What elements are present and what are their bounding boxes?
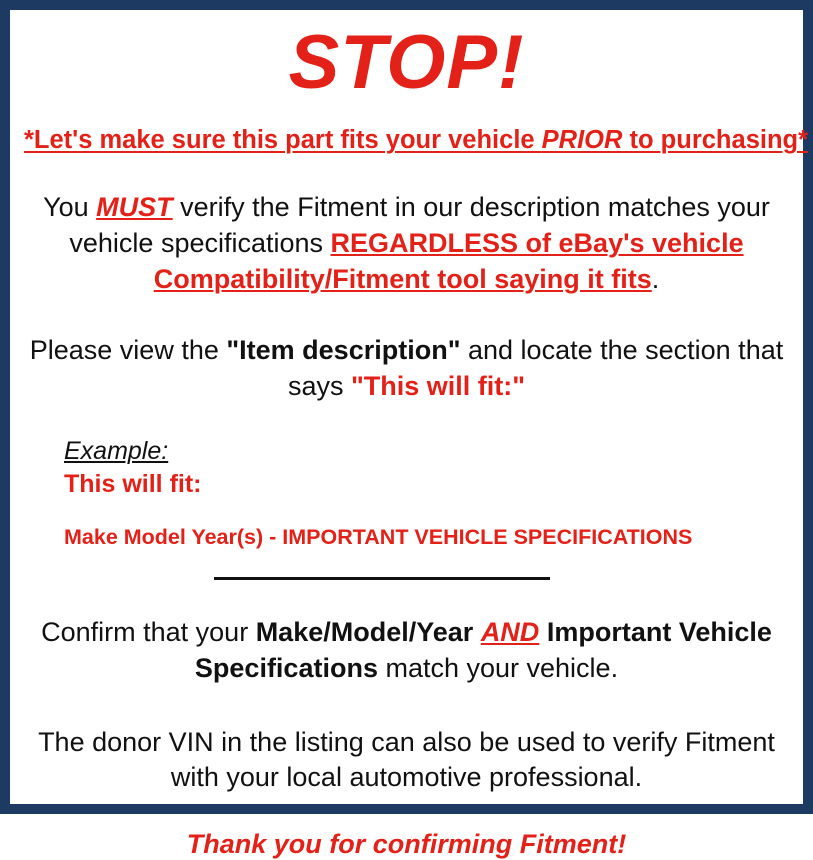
section-divider: [214, 577, 550, 580]
must-text-part1: You: [43, 192, 96, 222]
confirm-space-1: [473, 617, 481, 647]
view-text-part1: Please view the: [30, 335, 227, 365]
stop-headline: STOP!: [24, 25, 789, 101]
subtitle-text-before: *Let's make sure this part fits your veh…: [24, 126, 542, 154]
and-emphasis: AND: [481, 617, 540, 647]
item-description-emphasis: "Item description": [226, 335, 460, 365]
example-label-row: Example:: [64, 438, 789, 466]
subtitle-text-after: to purchasing*: [622, 126, 808, 154]
this-will-fit-quote: "This will fit:": [351, 371, 525, 401]
paragraph-confirm: Confirm that your Make/Model/Year AND Im…: [24, 615, 789, 686]
example-block: Example: This will fit: Make Model Year(…: [24, 438, 789, 549]
notice-content: STOP! *Let's make sure this part fits yo…: [10, 25, 803, 819]
thank-you-line: Thank you for confirming Fitment!: [24, 828, 789, 860]
must-emphasis: MUST: [96, 192, 173, 222]
subtitle-emphasis-prior: PRIOR: [542, 126, 623, 154]
make-model-year-emphasis: Make/Model/Year: [256, 617, 474, 647]
paragraph-must-verify: You MUST verify the Fitment in our descr…: [24, 190, 789, 297]
fitment-notice-card: STOP! *Let's make sure this part fits yo…: [0, 0, 813, 814]
example-spec-line: Make Model Year(s) - IMPORTANT VEHICLE S…: [64, 525, 789, 550]
confirm-text-part1: Confirm that your: [41, 617, 256, 647]
must-text-part3: .: [652, 264, 660, 294]
confirm-text-part2: match your vehicle.: [378, 653, 618, 683]
subtitle-banner: *Let's make sure this part fits your veh…: [24, 126, 789, 155]
example-fit-header: This will fit:: [64, 470, 789, 499]
paragraph-view-description: Please view the "Item description" and l…: [24, 333, 789, 404]
example-label: Example:: [64, 438, 168, 466]
confirm-space-2: [539, 617, 547, 647]
paragraph-donor-vin: The donor VIN in the listing can also be…: [24, 725, 789, 796]
divider-wrap: [24, 571, 789, 585]
